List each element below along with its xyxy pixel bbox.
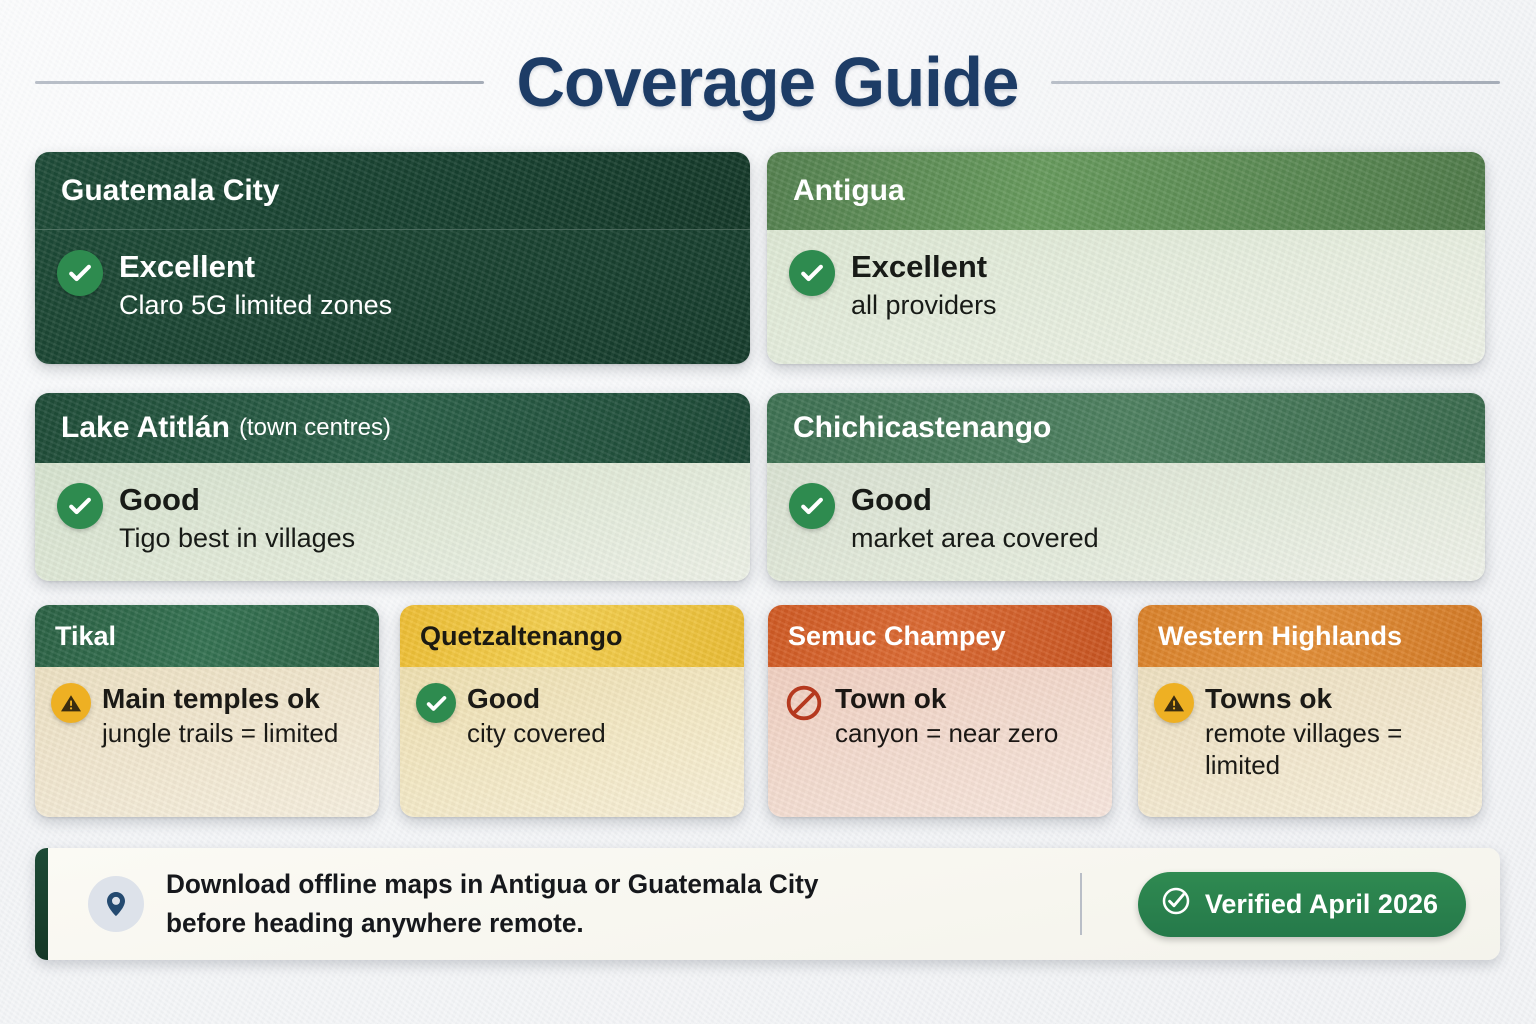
- card-detail-western-highlands: remote villages = limited: [1205, 718, 1466, 781]
- card-title-guatemala-city: Guatemala City: [61, 174, 279, 208]
- title-rule-right: [1051, 81, 1500, 84]
- footer-note: Download offline maps in Antigua or Guat…: [166, 865, 1052, 943]
- footer-tip-bar: Download offline maps in Antigua or Guat…: [35, 848, 1500, 960]
- footer-accent-bar: [35, 848, 48, 960]
- card-header-tikal: Tikal: [35, 605, 379, 667]
- coverage-card-tikal[interactable]: Tikal Main temples ok jungle trails = li…: [35, 605, 379, 817]
- coverage-guide-page: Coverage Guide Guatemala City Excellent …: [0, 0, 1536, 1024]
- card-status-semuc-champey: Town ok: [835, 683, 1058, 714]
- map-pin-icon: [88, 876, 144, 932]
- warning-triangle-icon: [1154, 683, 1194, 723]
- card-status-block-chichicastenango: Good market area covered: [851, 483, 1099, 563]
- card-status-block-quetzaltenango: Good city covered: [467, 683, 606, 803]
- card-status-guatemala-city: Excellent: [119, 250, 392, 285]
- card-status-block-antigua: Excellent all providers: [851, 250, 997, 346]
- footer-divider: [1080, 873, 1082, 935]
- check-circle-icon: [57, 483, 103, 529]
- coverage-card-guatemala-city[interactable]: Guatemala City Excellent Claro 5G limite…: [35, 152, 750, 364]
- card-body-tikal: Main temples ok jungle trails = limited: [35, 667, 379, 817]
- warning-triangle-icon: [51, 683, 91, 723]
- card-title-antigua: Antigua: [793, 174, 905, 208]
- card-body-quetzaltenango: Good city covered: [400, 667, 744, 817]
- card-status-block-lake-atitlan: Good Tigo best in villages: [119, 483, 355, 563]
- card-status-antigua: Excellent: [851, 250, 997, 285]
- title-rule-left: [35, 81, 484, 84]
- check-circle-icon: [789, 250, 835, 296]
- card-header-semuc-champey: Semuc Champey: [768, 605, 1112, 667]
- card-body-antigua: Excellent all providers: [767, 230, 1485, 364]
- card-header-western-highlands: Western Highlands: [1138, 605, 1482, 667]
- card-title-semuc-champey: Semuc Champey: [788, 621, 1006, 652]
- card-detail-guatemala-city: Claro 5G limited zones: [119, 289, 392, 322]
- no-entry-icon: [784, 683, 824, 723]
- coverage-card-semuc-champey[interactable]: Semuc Champey Town ok canyon = near zero: [768, 605, 1112, 817]
- verified-badge-label: Verified April 2026: [1205, 889, 1438, 920]
- card-title-lake-atitlan: Lake Atitlán: [61, 411, 230, 445]
- card-body-chichicastenango: Good market area covered: [767, 463, 1485, 581]
- card-title-western-highlands: Western Highlands: [1158, 621, 1402, 652]
- card-header-chichicastenango: Chichicastenango: [767, 393, 1485, 463]
- card-body-lake-atitlan: Good Tigo best in villages: [35, 463, 750, 581]
- card-title-tikal: Tikal: [55, 621, 116, 652]
- card-detail-lake-atitlan: Tigo best in villages: [119, 522, 355, 555]
- card-status-block-western-highlands: Towns ok remote villages = limited: [1205, 683, 1466, 803]
- card-header-antigua: Antigua: [767, 152, 1485, 230]
- card-header-quetzaltenango: Quetzaltenango: [400, 605, 744, 667]
- card-status-quetzaltenango: Good: [467, 683, 606, 714]
- card-detail-quetzaltenango: city covered: [467, 718, 606, 750]
- card-detail-antigua: all providers: [851, 289, 997, 322]
- card-status-block-guatemala-city: Excellent Claro 5G limited zones: [119, 250, 392, 346]
- card-status-lake-atitlan: Good: [119, 483, 355, 518]
- card-title-chichicastenango: Chichicastenango: [793, 411, 1051, 445]
- card-body-semuc-champey: Town ok canyon = near zero: [768, 667, 1112, 817]
- card-title-suffix-lake-atitlan: (town centres): [239, 414, 391, 442]
- coverage-card-lake-atitlan[interactable]: Lake Atitlán (town centres) Good Tigo be…: [35, 393, 750, 581]
- card-status-western-highlands: Towns ok: [1205, 683, 1466, 714]
- card-body-western-highlands: Towns ok remote villages = limited: [1138, 667, 1482, 817]
- card-status-block-tikal: Main temples ok jungle trails = limited: [102, 683, 338, 803]
- check-circle-icon: [789, 483, 835, 529]
- card-body-guatemala-city: Excellent Claro 5G limited zones: [35, 230, 750, 364]
- card-status-block-semuc-champey: Town ok canyon = near zero: [835, 683, 1058, 803]
- card-header-guatemala-city: Guatemala City: [35, 152, 750, 230]
- coverage-card-quetzaltenango[interactable]: Quetzaltenango Good city covered: [400, 605, 744, 817]
- circle-check-outline-icon: [1160, 885, 1192, 924]
- page-title-row: Coverage Guide: [35, 38, 1500, 126]
- card-detail-semuc-champey: canyon = near zero: [835, 718, 1058, 750]
- card-title-quetzaltenango: Quetzaltenango: [420, 621, 623, 652]
- page-title: Coverage Guide: [517, 42, 1019, 122]
- verified-badge[interactable]: Verified April 2026: [1138, 872, 1466, 937]
- card-status-chichicastenango: Good: [851, 483, 1099, 518]
- card-detail-chichicastenango: market area covered: [851, 522, 1099, 555]
- coverage-card-western-highlands[interactable]: Western Highlands Towns ok remote villag…: [1138, 605, 1482, 817]
- coverage-card-chichicastenango[interactable]: Chichicastenango Good market area covere…: [767, 393, 1485, 581]
- coverage-card-antigua[interactable]: Antigua Excellent all providers: [767, 152, 1485, 364]
- card-status-tikal: Main temples ok: [102, 683, 338, 714]
- check-circle-icon: [416, 683, 456, 723]
- check-circle-icon: [57, 250, 103, 296]
- card-header-lake-atitlan: Lake Atitlán (town centres): [35, 393, 750, 463]
- card-detail-tikal: jungle trails = limited: [102, 718, 338, 750]
